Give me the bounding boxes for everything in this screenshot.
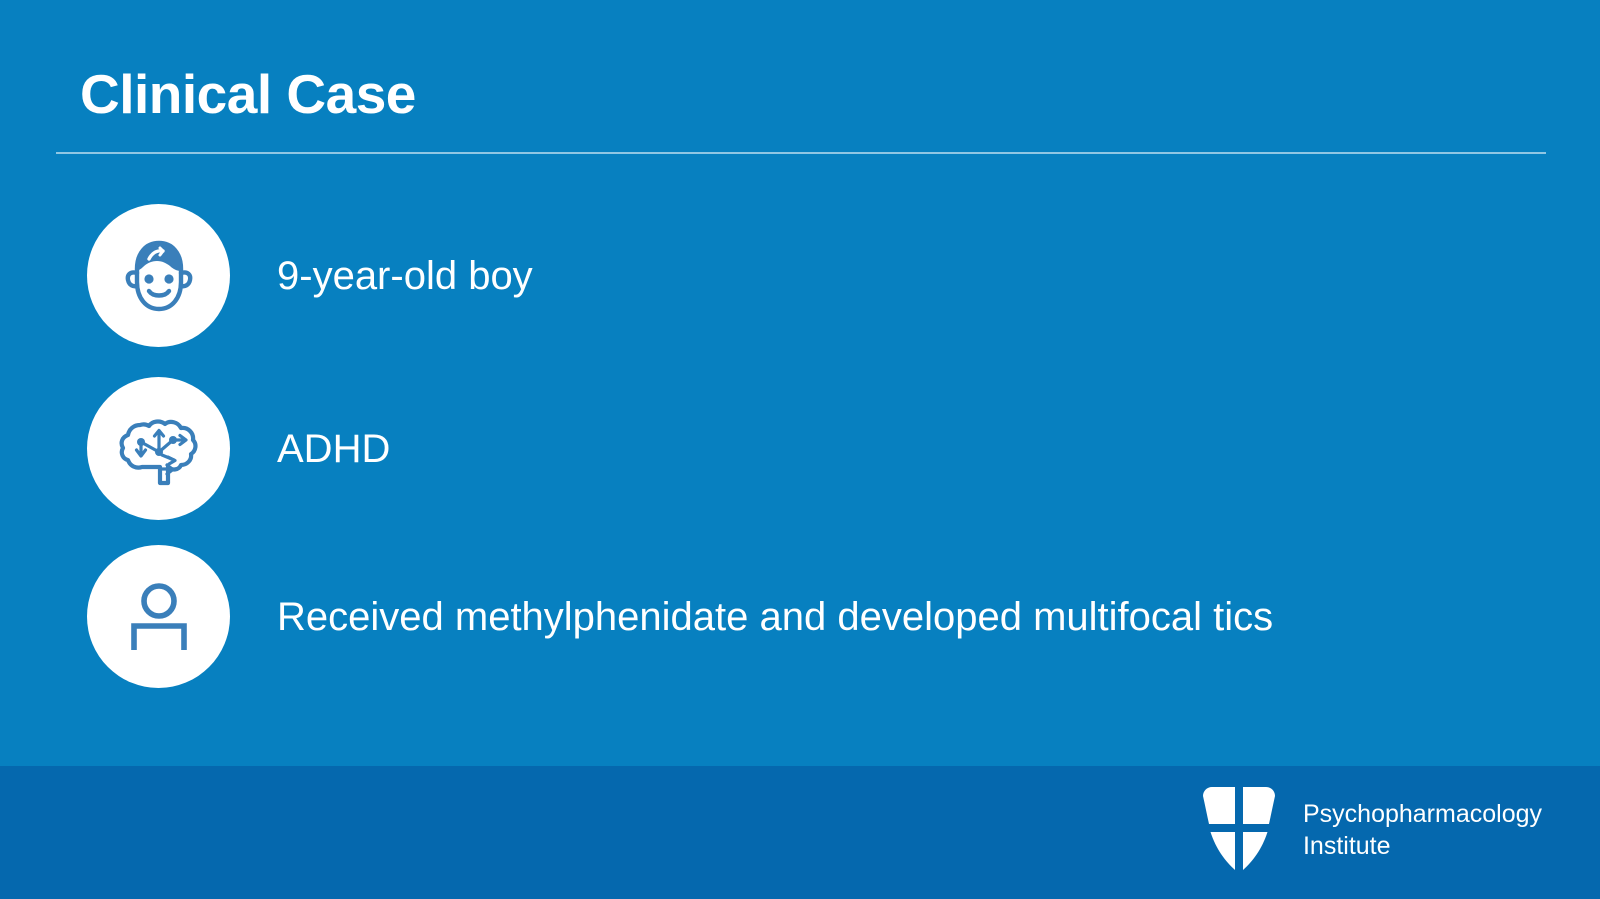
icon-badge bbox=[87, 204, 230, 347]
shield-logo-icon bbox=[1197, 782, 1281, 878]
brand-line-1: Psychopharmacology bbox=[1303, 798, 1542, 830]
icon-badge bbox=[87, 377, 230, 520]
footer-bar: Psychopharmacology Institute bbox=[0, 766, 1600, 899]
list-item: ADHD bbox=[87, 377, 1537, 520]
brain-network-icon bbox=[116, 409, 202, 489]
title-divider bbox=[56, 152, 1546, 154]
brand-name: Psychopharmacology Institute bbox=[1303, 798, 1542, 862]
list-item-label: 9-year-old boy bbox=[277, 252, 533, 300]
list-item: 9-year-old boy bbox=[87, 204, 1537, 347]
icon-badge bbox=[87, 545, 230, 688]
boy-face-icon bbox=[119, 233, 199, 319]
list-item-label: Received methylphenidate and developed m… bbox=[277, 593, 1273, 641]
list-item-label: ADHD bbox=[277, 425, 390, 473]
person-icon bbox=[126, 581, 192, 653]
brand-logo: Psychopharmacology Institute bbox=[1197, 782, 1542, 878]
brand-line-2: Institute bbox=[1303, 830, 1542, 862]
list-item: Received methylphenidate and developed m… bbox=[87, 545, 1537, 688]
page-title: Clinical Case bbox=[80, 66, 416, 124]
slide: Clinical Case bbox=[0, 0, 1600, 899]
